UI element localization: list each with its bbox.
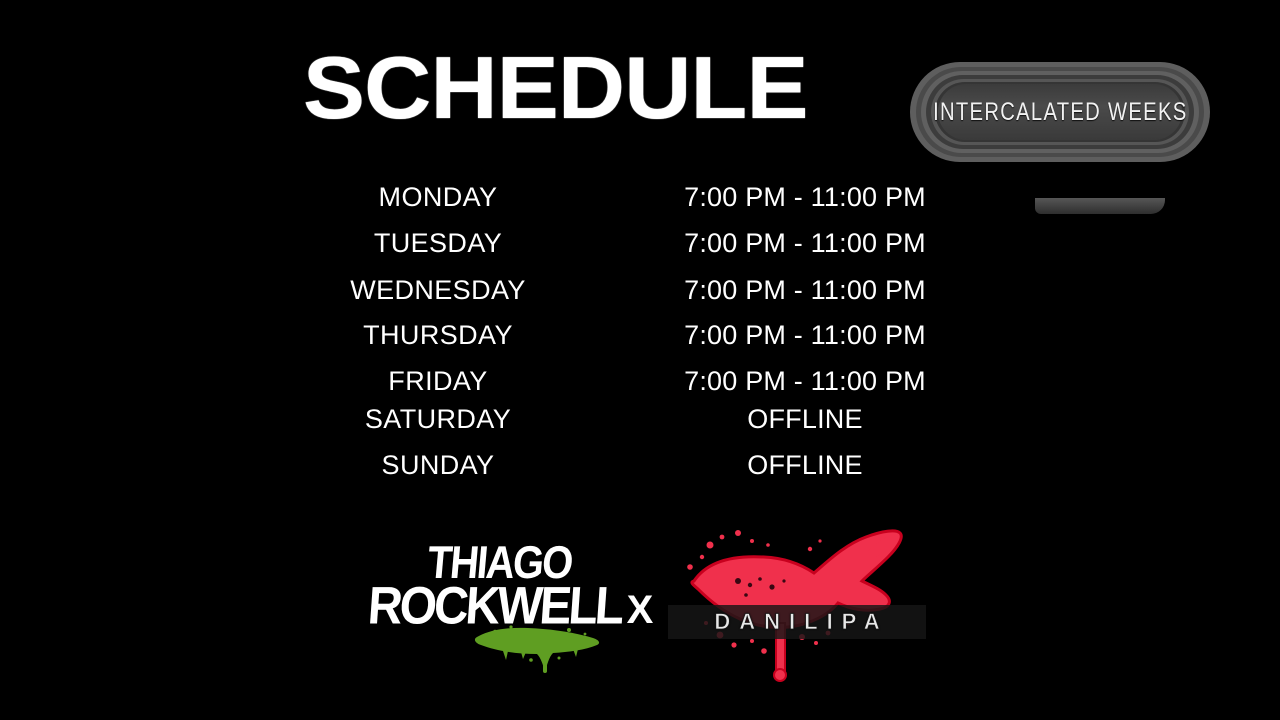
schedule-row: WEDNESDAY7:00 PM - 11:00 PM xyxy=(0,273,1280,307)
danilipa-logo[interactable]: DANILIPA xyxy=(660,523,930,683)
day-label: THURSDAY xyxy=(278,318,598,352)
paint-splatter-icon xyxy=(473,621,603,673)
schedule-row: MONDAY7:00 PM - 11:00 PM xyxy=(0,180,1280,214)
intercalated-weeks-badge[interactable]: INTERCALATED WEEKS xyxy=(905,58,1215,166)
status-offline: OFFLINE xyxy=(645,402,965,436)
schedule-row: FRIDAY7:00 PM - 11:00 PM xyxy=(0,364,1280,398)
time-range: 7:00 PM - 11:00 PM xyxy=(645,226,965,260)
time-range: 7:00 PM - 11:00 PM xyxy=(645,180,965,214)
thiago-rockwell-logo[interactable]: THIAGO ROCKWELL xyxy=(368,525,613,675)
footer: THIAGO ROCKWELL X xyxy=(0,505,1280,720)
badge-label: INTERCALATED WEEKS xyxy=(933,97,1187,126)
day-label: SUNDAY xyxy=(278,448,598,482)
danilipa-wordmark: DANILIPA xyxy=(668,605,926,639)
status-offline: OFFLINE xyxy=(645,448,965,482)
day-label: FRIDAY xyxy=(278,364,598,398)
schedule-row: SUNDAYOFFLINE xyxy=(0,448,1280,482)
day-label: MONDAY xyxy=(278,180,598,214)
time-range: 7:00 PM - 11:00 PM xyxy=(645,364,965,398)
schedule-row: THURSDAY7:00 PM - 11:00 PM xyxy=(0,318,1280,352)
whale-icon xyxy=(660,523,930,683)
badge-core: INTERCALATED WEEKS xyxy=(938,84,1182,140)
schedule-row: SATURDAYOFFLINE xyxy=(0,402,1280,436)
header: SCHEDULE INTERCALATED WEEKS xyxy=(0,0,1280,180)
schedule-row: TUESDAY7:00 PM - 11:00 PM xyxy=(0,226,1280,260)
time-range: 7:00 PM - 11:00 PM xyxy=(645,318,965,352)
day-label: WEDNESDAY xyxy=(278,273,598,307)
day-label: SATURDAY xyxy=(278,402,598,436)
day-label: TUESDAY xyxy=(278,226,598,260)
time-range: 7:00 PM - 11:00 PM xyxy=(645,273,965,307)
